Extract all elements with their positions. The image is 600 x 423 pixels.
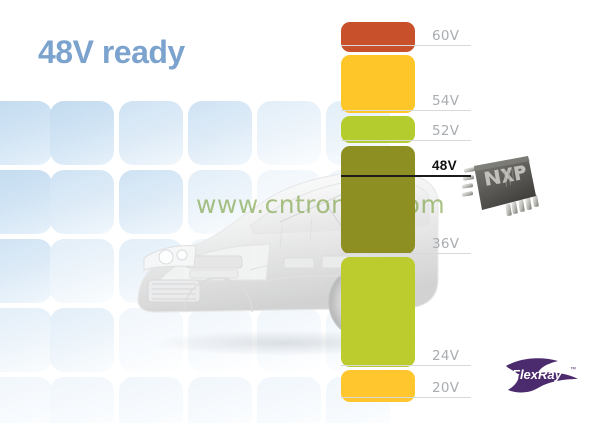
background-tile [0, 377, 52, 423]
voltage-band [341, 257, 415, 367]
background-tile [257, 377, 321, 423]
voltage-tick-line [341, 397, 471, 398]
page-title: 48V ready [38, 34, 185, 71]
background-tile [50, 170, 114, 234]
voltage-tick-line [341, 365, 471, 366]
background-tile [50, 308, 114, 372]
voltage-tick-label: 54V [432, 93, 459, 109]
voltage-tick-label: 20V [432, 380, 459, 396]
flexray-logo: FlexRay ™ [500, 352, 592, 398]
voltage-band [341, 55, 415, 113]
voltage-tick-line [341, 110, 471, 111]
voltage-tick-label: 36V [432, 236, 459, 252]
background-tile [188, 377, 252, 423]
voltage-band [341, 116, 415, 143]
background-tile [0, 308, 52, 372]
voltage-tick-label: 60V [432, 28, 459, 44]
voltage-tick-line [341, 140, 471, 141]
background-tile [0, 101, 52, 165]
background-tile [50, 377, 114, 423]
voltage-tick-label: 48V [432, 158, 457, 173]
background-tile [50, 239, 114, 303]
background-tile [50, 101, 114, 165]
voltage-band [341, 146, 415, 254]
voltage-tick-line [341, 175, 471, 177]
voltage-tick-line [341, 45, 471, 46]
flexray-trademark-icon: ™ [570, 366, 576, 373]
slide-canvas: www.cntronics.com 48V ready [0, 0, 600, 423]
voltage-tick-line [341, 253, 471, 254]
nxp-chip-photo [462, 152, 540, 222]
voltage-band [341, 22, 415, 52]
background-tile [0, 239, 52, 303]
voltage-bar-column [341, 0, 415, 423]
background-tile [0, 170, 52, 234]
flexray-wordmark: FlexRay [512, 367, 563, 382]
voltage-tick-label: 52V [432, 123, 459, 139]
background-tile [119, 377, 183, 423]
voltage-tick-label: 24V [432, 348, 459, 364]
